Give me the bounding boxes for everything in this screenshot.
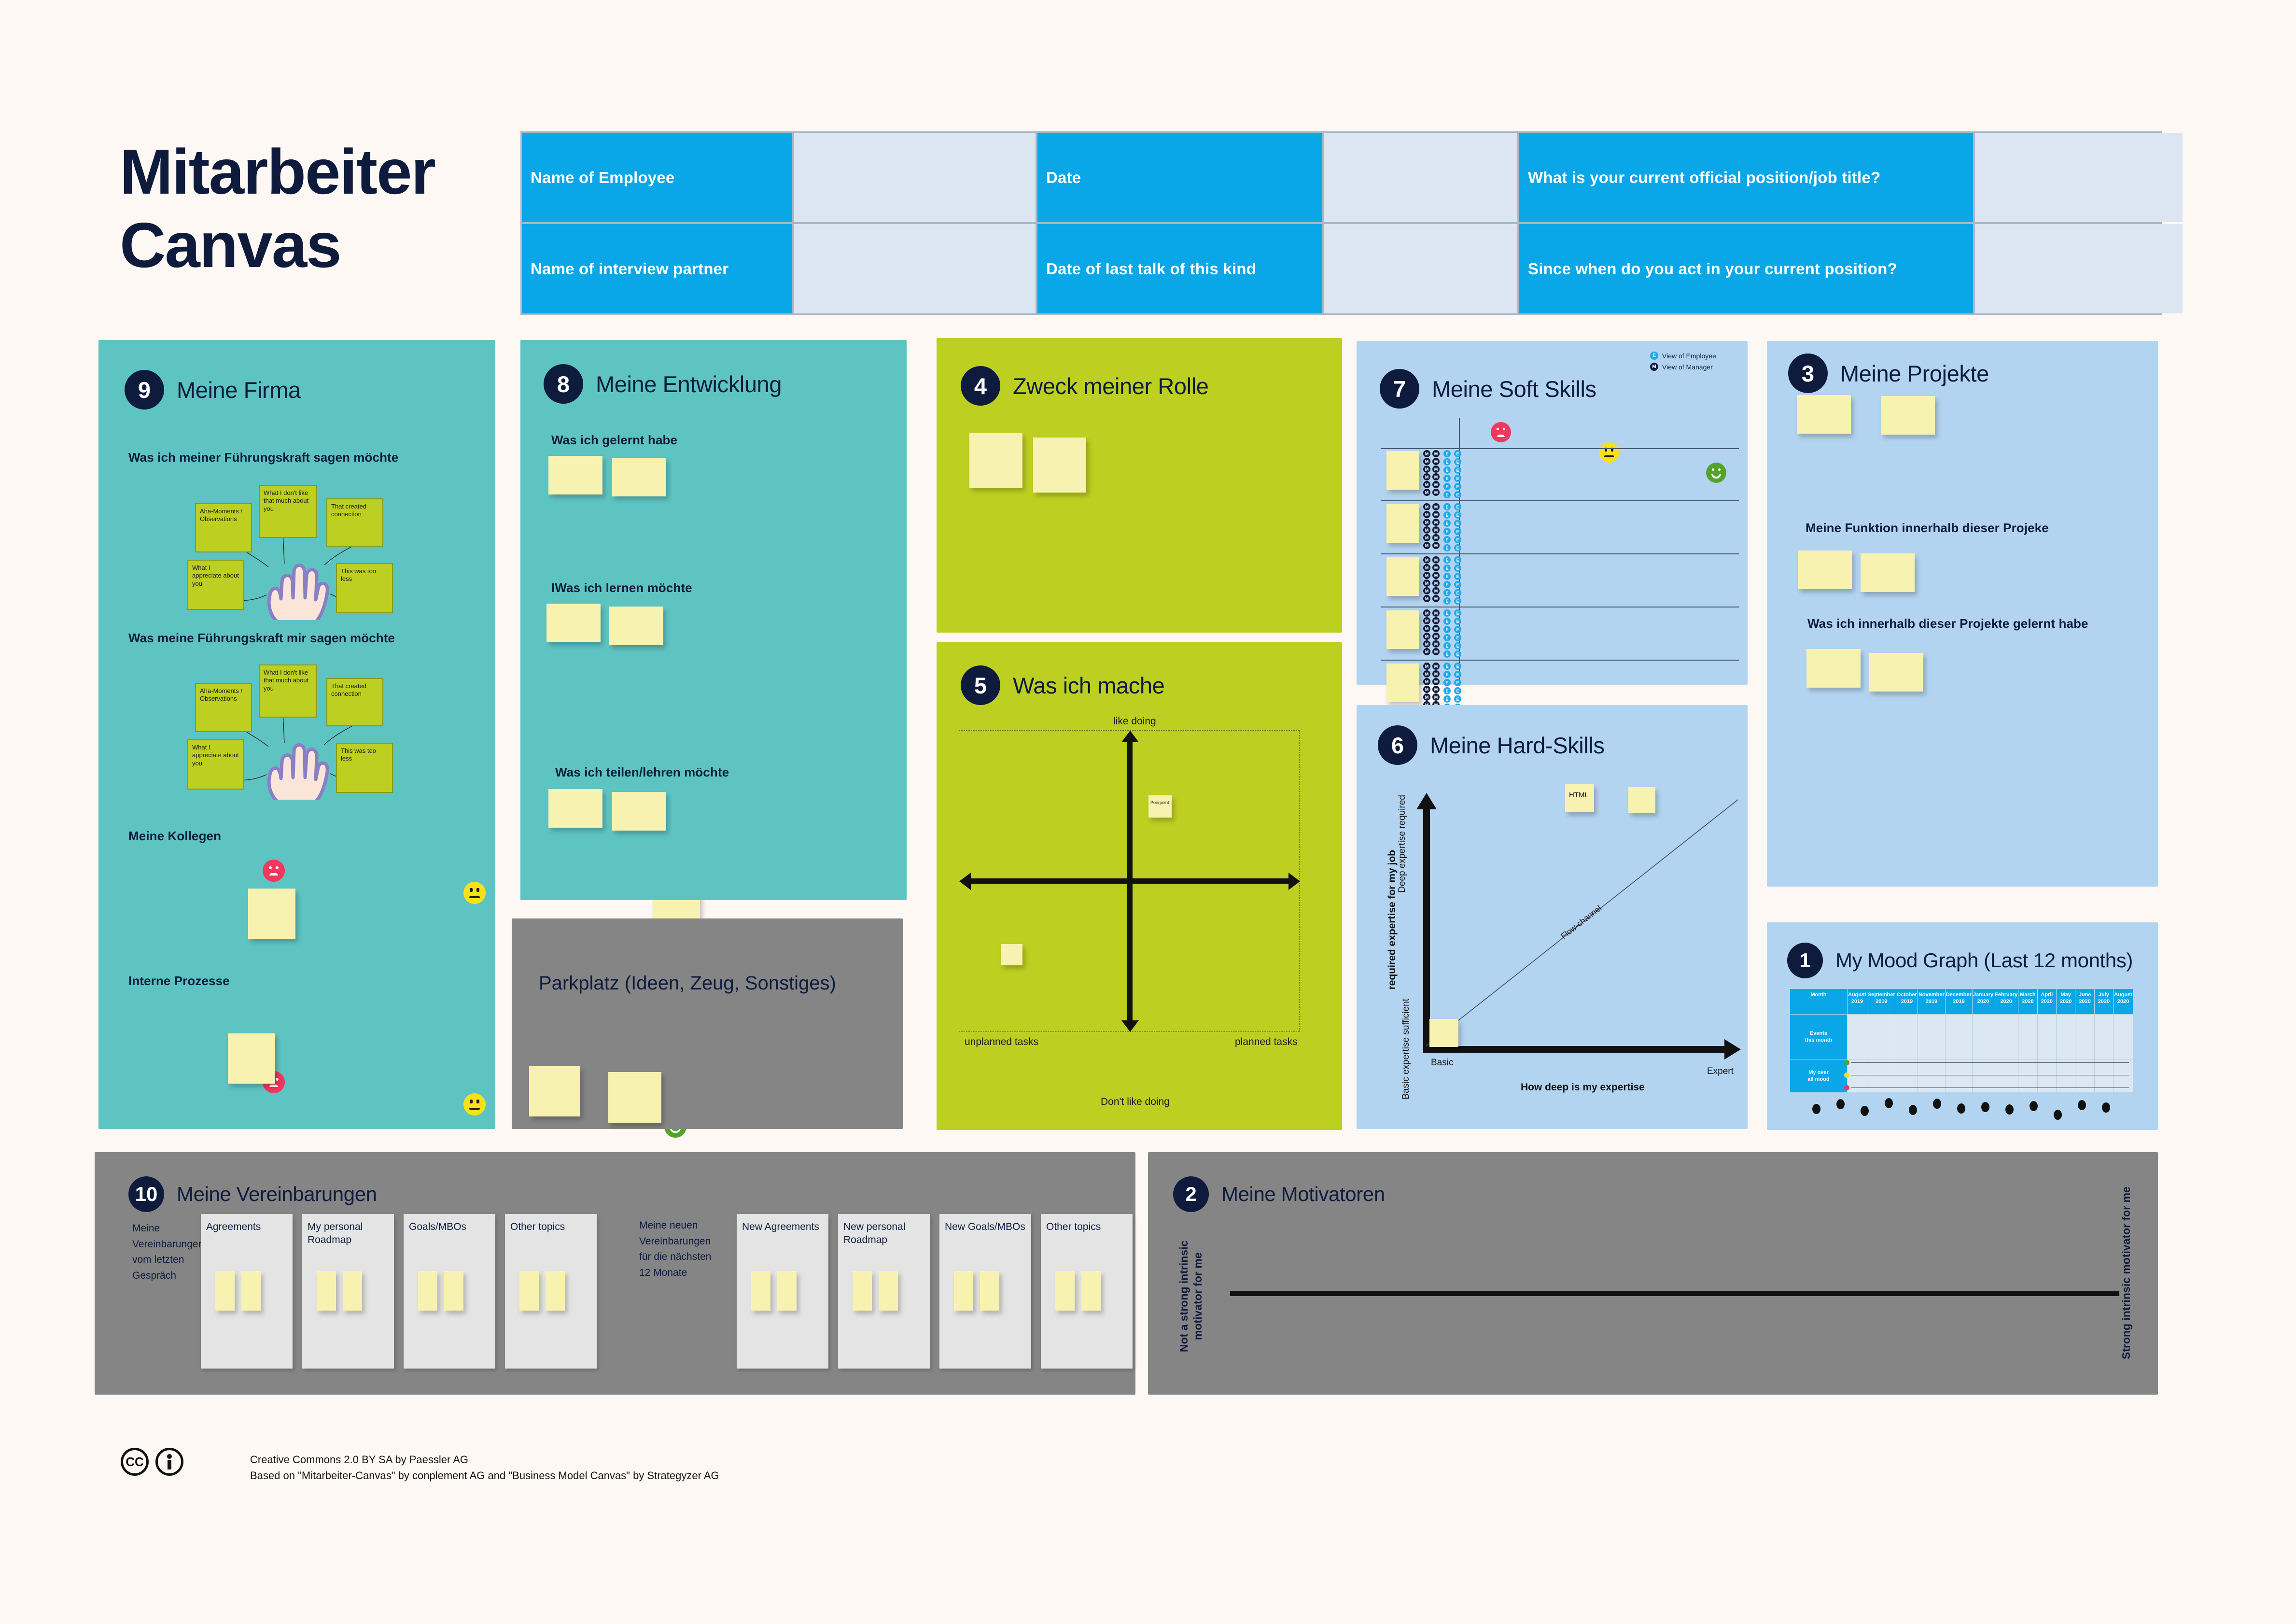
employee-badge[interactable]: E xyxy=(1443,687,1451,694)
agreement-new-note[interactable] xyxy=(980,1271,999,1311)
mood-data-point[interactable] xyxy=(1957,1103,1965,1114)
employee-badge[interactable]: E xyxy=(1443,597,1451,605)
employee-badge[interactable]: E xyxy=(1454,581,1461,588)
panel-number-badge: 7 xyxy=(1380,369,1419,409)
panel-2-header: 2 Meine Motivatoren xyxy=(1173,1176,1385,1212)
manager-badge[interactable]: M xyxy=(1432,534,1440,541)
manager-badge[interactable]: M xyxy=(1423,595,1430,602)
employee-badge[interactable]: E xyxy=(1443,556,1451,564)
header-label-name-of-employee: Name of Employee xyxy=(522,133,792,222)
hand-diagram-to-manager: Aha-Moments / Observations What I don't … xyxy=(124,475,471,620)
mood-events-cell[interactable] xyxy=(2018,1015,2037,1059)
arrow-down-icon xyxy=(1121,1020,1139,1032)
manager-badge[interactable]: M xyxy=(1432,466,1440,473)
mood-row-label-mood: My overall mood xyxy=(1790,1059,1847,1092)
manager-badge[interactable]: M xyxy=(1432,648,1440,655)
manager-badge[interactable]: M xyxy=(1423,633,1430,640)
manager-badge[interactable]: M xyxy=(1423,556,1430,564)
employee-badge[interactable]: E xyxy=(1454,466,1461,474)
hand-note-too-less[interactable]: This was too less xyxy=(336,563,393,613)
employee-badge[interactable]: E xyxy=(1443,475,1451,482)
mood-month-header: March2020 xyxy=(2018,989,2037,1014)
panel-number-badge: 8 xyxy=(544,364,583,404)
manager-badge[interactable]: M xyxy=(1423,625,1430,632)
agreement-new-notes xyxy=(853,1271,898,1311)
attribution-person-icon xyxy=(155,1448,183,1476)
note-project-1[interactable] xyxy=(1797,395,1851,434)
manager-badge[interactable]: M xyxy=(1423,519,1430,526)
manager-badge[interactable]: M xyxy=(1432,473,1440,480)
soft-skill-note[interactable] xyxy=(1386,451,1419,490)
employee-badge[interactable]: E xyxy=(1443,671,1451,678)
employee-badge[interactable]: E xyxy=(1454,634,1461,641)
agreement-old-column[interactable]: Agreements xyxy=(201,1214,293,1369)
agreement-old-note[interactable] xyxy=(519,1271,539,1311)
footer-line-2: Based on "Mitarbeiter-Canvas" by conplem… xyxy=(250,1468,719,1483)
note-want-learn-2[interactable] xyxy=(609,607,663,645)
employee-badge[interactable]: E xyxy=(1454,556,1461,564)
employee-badge[interactable]: E xyxy=(1454,687,1461,694)
agreement-new-notes xyxy=(751,1271,797,1311)
agreement-old-note[interactable] xyxy=(418,1271,437,1311)
employee-badge[interactable]: E xyxy=(1443,634,1451,641)
manager-badge[interactable]: M xyxy=(1423,466,1430,473)
mood-sad-face-icon xyxy=(1844,1085,1849,1090)
employee-badge[interactable]: E xyxy=(1454,528,1461,535)
motivator-left-label: Not a strong intrinsic motivator for me xyxy=(1177,1229,1206,1364)
agreement-old-column[interactable]: Goals/MBOs xyxy=(404,1214,495,1369)
panel-parkplatz: Parkplatz (Ideen, Zeug, Sonstiges) xyxy=(512,918,903,1129)
employee-badge[interactable]: E xyxy=(1443,663,1451,670)
agreement-new-column-title: Other topics xyxy=(1041,1214,1133,1233)
note-processes-sad[interactable] xyxy=(228,1033,275,1084)
subheading-want-learn: IWas ich lernen möchte xyxy=(551,580,692,595)
manager-badge[interactable]: M xyxy=(1432,511,1440,518)
manager-badge[interactable]: M xyxy=(1423,617,1430,624)
manager-badge[interactable]: M xyxy=(1423,542,1430,549)
panel-title: My Mood Graph (Last 12 months) xyxy=(1835,949,2133,972)
hardskills-note-html[interactable]: HTML xyxy=(1565,784,1594,812)
mood-data-point[interactable] xyxy=(2102,1102,2110,1113)
header-input-interview-partner[interactable] xyxy=(794,224,1036,313)
note-want-learn-1[interactable] xyxy=(546,604,601,642)
mood-data-point[interactable] xyxy=(2078,1100,2086,1110)
employee-badge[interactable]: E xyxy=(1443,520,1451,527)
employee-badge[interactable]: E xyxy=(1454,503,1461,510)
mood-events-cell[interactable] xyxy=(1867,1015,1896,1059)
note-function-1[interactable] xyxy=(1798,551,1852,589)
mood-events-cell[interactable] xyxy=(2114,1015,2133,1059)
manager-badge[interactable]: M xyxy=(1432,625,1440,632)
parkplatz-title: Parkplatz (Ideen, Zeug, Sonstiges) xyxy=(539,973,836,994)
manager-badge[interactable]: M xyxy=(1423,609,1430,617)
employee-badge[interactable]: E xyxy=(1454,491,1461,498)
mood-data-point[interactable] xyxy=(2030,1101,2038,1111)
agreement-old-notes xyxy=(317,1271,362,1311)
note-parkplatz-2[interactable] xyxy=(608,1072,661,1123)
quadrant-label-left: unplanned tasks xyxy=(965,1036,1038,1048)
note-plearned-1[interactable] xyxy=(1806,649,1861,688)
employee-badge[interactable]: E xyxy=(1443,450,1451,457)
manager-badge[interactable]: M xyxy=(1432,595,1440,602)
agreement-new-note[interactable] xyxy=(751,1271,770,1311)
quadrant-label-top: like doing xyxy=(1113,716,1156,727)
employee-badge[interactable]: E xyxy=(1454,671,1461,678)
employee-badge[interactable]: E xyxy=(1454,695,1461,703)
header-input-since-when[interactable] xyxy=(1975,224,2183,313)
hand2-note-dislike[interactable]: What I don't like that much about you xyxy=(259,664,317,718)
panel-title: Meine Motivatoren xyxy=(1221,1183,1385,1206)
panel-5-header: 5 Was ich mache xyxy=(961,665,1164,705)
employee-badge[interactable]: E xyxy=(1454,544,1461,551)
mood-data-point[interactable] xyxy=(1861,1106,1869,1116)
panel-4-header: 4 Zweck meiner Rolle xyxy=(961,366,1208,406)
manager-badge[interactable]: M xyxy=(1423,663,1430,670)
mood-events-cell[interactable] xyxy=(2057,1015,2075,1059)
mood-events-cell[interactable] xyxy=(1848,1015,1867,1059)
employee-badge[interactable]: E xyxy=(1454,520,1461,527)
manager-badge[interactable]: M xyxy=(1423,458,1430,465)
hardskills-ylabel: required expertise for my job xyxy=(1386,850,1398,989)
mood-data-point[interactable] xyxy=(1981,1102,1989,1112)
agreement-old-note[interactable] xyxy=(546,1271,565,1311)
employee-badge[interactable]: E xyxy=(1443,483,1451,490)
employee-rating-badges[interactable]: EEEEEEEEEEEE xyxy=(1443,609,1464,658)
hand-note-appreciate[interactable]: What I appreciate about you xyxy=(187,560,244,610)
manager-badge[interactable]: M xyxy=(1423,489,1430,496)
note-plearned-2[interactable] xyxy=(1869,653,1923,692)
employee-badge[interactable]: E xyxy=(1443,609,1451,617)
panel-number-badge: 1 xyxy=(1787,943,1823,978)
employee-badge[interactable]: E xyxy=(1443,503,1451,510)
mood-data-point[interactable] xyxy=(1933,1099,1941,1109)
employee-badge[interactable]: E xyxy=(1454,650,1461,658)
manager-badge[interactable]: M xyxy=(1423,511,1430,518)
note-role-1[interactable] xyxy=(969,433,1022,488)
employee-badge[interactable]: E xyxy=(1443,589,1451,596)
sad-face-icon xyxy=(263,860,285,882)
manager-badge[interactable]: M xyxy=(1423,572,1430,579)
hand-note-observations[interactable]: Aha-Moments / Observations xyxy=(195,503,252,552)
manager-rating-badges[interactable]: MMMMMMMMMMMM xyxy=(1423,503,1441,549)
employee-badge[interactable]: E xyxy=(1454,597,1461,605)
mood-row-label-events: Eventsthis month xyxy=(1790,1015,1847,1059)
page-title-line2: Canvas xyxy=(120,209,554,282)
agreement-old-note[interactable] xyxy=(241,1271,261,1311)
note-share-2[interactable] xyxy=(612,792,666,831)
employee-badge[interactable]: E xyxy=(1443,642,1451,650)
panel-meine-hard-skills: 6 Meine Hard-Skills required expertise f… xyxy=(1357,705,1748,1129)
employee-badge[interactable]: E xyxy=(1454,450,1461,457)
person-glyph xyxy=(164,1454,175,1470)
mood-events-cell[interactable] xyxy=(1994,1015,2018,1059)
motivator-scale-line[interactable] xyxy=(1230,1291,2119,1296)
manager-badge[interactable]: M xyxy=(1432,609,1440,617)
manager-badge[interactable]: M xyxy=(1432,458,1440,465)
soft-skill-note[interactable] xyxy=(1386,504,1419,543)
panel-number-badge: 4 xyxy=(961,366,1000,406)
quadrant-note-2[interactable] xyxy=(1001,944,1022,965)
header-input-position[interactable] xyxy=(1975,133,2183,222)
manager-badge[interactable]: M xyxy=(1432,587,1440,594)
manager-badge[interactable]: M xyxy=(1423,473,1430,480)
manager-badge[interactable]: M xyxy=(1423,648,1430,655)
soft-skill-note[interactable] xyxy=(1386,664,1419,702)
note-function-2[interactable] xyxy=(1861,553,1915,592)
panel-title: Zweck meiner Rolle xyxy=(1013,373,1208,399)
employee-badge[interactable]: E xyxy=(1454,475,1461,482)
soft-skill-row: MMMMMMMMMMMMEEEEEEEEEEEE xyxy=(1381,448,1739,501)
legend-manager-badge: M xyxy=(1650,363,1658,371)
legend-manager-label: View of Manager xyxy=(1662,363,1713,371)
agreement-new-note[interactable] xyxy=(879,1271,898,1311)
manager-rating-badges[interactable]: MMMMMMMMMMMM xyxy=(1423,556,1441,602)
mood-month-header: February2020 xyxy=(1994,989,2018,1014)
mood-month-header: August2019 xyxy=(1848,989,1867,1014)
manager-badge[interactable]: M xyxy=(1432,617,1440,624)
mood-data-point[interactable] xyxy=(2005,1104,2014,1115)
footer-line-1: Creative Commons 2.0 BY SA by Paessler A… xyxy=(250,1452,719,1468)
manager-badge[interactable]: M xyxy=(1423,481,1430,488)
hand2-note-appreciate[interactable]: What I appreciate about you xyxy=(187,739,244,790)
hand2-note-observations[interactable]: Aha-Moments / Observations xyxy=(195,683,252,732)
manager-badge[interactable]: M xyxy=(1432,556,1440,564)
agreement-old-note[interactable] xyxy=(444,1271,463,1311)
mood-month-header: November2019 xyxy=(1918,989,1945,1014)
quadrant-note-poerpoint[interactable]: Poerpoint xyxy=(1148,795,1172,818)
mood-month-header: December2019 xyxy=(1946,989,1972,1014)
employee-badge[interactable]: E xyxy=(1454,618,1461,625)
agreement-old-column-title: Goals/MBOs xyxy=(404,1214,495,1233)
mood-month-header: April2020 xyxy=(2038,989,2056,1014)
mood-data-point[interactable] xyxy=(1836,1099,1845,1109)
employee-rating-badges[interactable]: EEEEEEEEEEEE xyxy=(1443,663,1464,711)
employee-badge[interactable]: E xyxy=(1443,565,1451,572)
agreement-old-note[interactable] xyxy=(215,1271,235,1311)
employee-rating-badges[interactable]: EEEEEEEEEEEE xyxy=(1443,450,1464,498)
manager-badge[interactable]: M xyxy=(1423,564,1430,571)
agreement-new-column-title: New personal Roadmap xyxy=(838,1214,930,1247)
mood-month-header: May2020 xyxy=(2057,989,2075,1014)
mood-month-header: June2020 xyxy=(2075,989,2094,1014)
mood-events-cell[interactable] xyxy=(1973,1015,1994,1059)
agreement-old-column-title: Agreements xyxy=(201,1214,293,1233)
agreement-new-column[interactable]: Other topics xyxy=(1041,1214,1133,1369)
employee-badge[interactable]: E xyxy=(1454,483,1461,490)
soft-skills-rows: MMMMMMMMMMMMEEEEEEEEEEEEMMMMMMMMMMMMEEEE… xyxy=(1381,448,1739,714)
note-project-2[interactable] xyxy=(1881,396,1935,435)
manager-badge[interactable]: M xyxy=(1432,579,1440,587)
note-share-1[interactable] xyxy=(548,789,602,828)
panel-3-header: 3 Meine Projekte xyxy=(1788,353,1989,393)
agreement-old-note[interactable] xyxy=(343,1271,362,1311)
quadrant-chart: Poerpoint xyxy=(959,730,1300,1032)
manager-badge[interactable]: M xyxy=(1432,663,1440,670)
legend-employee-badge: E xyxy=(1650,352,1658,360)
subheading-project-learned: Was ich innerhalb dieser Projekte gelern… xyxy=(1807,616,2088,631)
manager-rating-badges[interactable]: MMMMMMMMMMMM xyxy=(1423,663,1441,708)
employee-badge[interactable]: E xyxy=(1454,642,1461,650)
mood-events-cell[interactable] xyxy=(2075,1015,2094,1059)
employee-badge[interactable]: E xyxy=(1443,581,1451,588)
manager-badge[interactable]: M xyxy=(1432,542,1440,549)
employee-badge[interactable]: E xyxy=(1443,650,1451,658)
employee-badge[interactable]: E xyxy=(1443,458,1451,466)
agreement-old-column[interactable]: Other topics xyxy=(505,1214,597,1369)
manager-badge[interactable]: M xyxy=(1432,519,1440,526)
scale-sad-face-icon xyxy=(1491,422,1511,442)
soft-skill-note[interactable] xyxy=(1386,557,1419,596)
employee-rating-badges[interactable]: EEEEEEEEEEEE xyxy=(1443,503,1464,551)
manager-badge[interactable]: M xyxy=(1423,587,1430,594)
agreement-new-note[interactable] xyxy=(777,1271,797,1311)
arrow-right-icon xyxy=(1288,873,1300,890)
mood-data-point[interactable] xyxy=(1885,1098,1893,1108)
employee-badge[interactable]: E xyxy=(1443,511,1451,519)
manager-badge[interactable]: M xyxy=(1432,503,1440,510)
employee-badge[interactable]: E xyxy=(1443,528,1451,535)
neutral-face-icon-2 xyxy=(463,1093,486,1116)
panel-number-badge: 5 xyxy=(961,665,1000,705)
agreement-new-note[interactable] xyxy=(954,1271,973,1311)
employee-badge[interactable]: E xyxy=(1454,458,1461,466)
manager-rating-badges[interactable]: MMMMMMMMMMMM xyxy=(1423,450,1441,496)
manager-badge[interactable]: M xyxy=(1432,481,1440,488)
manager-badge[interactable]: M xyxy=(1423,693,1430,701)
manager-badge[interactable]: M xyxy=(1423,640,1430,648)
agreement-new-column[interactable]: New Agreements xyxy=(737,1214,828,1369)
agreement-new-note[interactable] xyxy=(1081,1271,1101,1311)
agreement-new-column[interactable]: New Goals/MBOs xyxy=(939,1214,1031,1369)
employee-badge[interactable]: E xyxy=(1454,589,1461,596)
manager-badge[interactable]: M xyxy=(1423,670,1430,678)
note-learned-1[interactable] xyxy=(548,456,602,494)
employee-badge[interactable]: E xyxy=(1443,626,1451,633)
manager-badge[interactable]: M xyxy=(1423,579,1430,587)
employee-badge[interactable]: E xyxy=(1443,573,1451,580)
header-label-last-talk-date: Date of last talk of this kind xyxy=(1037,224,1322,313)
note-learned-2[interactable] xyxy=(612,458,666,496)
manager-badge[interactable]: M xyxy=(1432,640,1440,648)
panel-was-ich-mache: 5 Was ich mache like doing Poerpoint unp… xyxy=(937,642,1342,1130)
agreement-old-note[interactable] xyxy=(317,1271,336,1311)
manager-badge[interactable]: M xyxy=(1432,633,1440,640)
hardskills-note-2[interactable] xyxy=(1628,787,1655,813)
soft-skill-row: MMMMMMMMMMMMEEEEEEEEEEEE xyxy=(1381,554,1739,607)
employee-badge[interactable]: E xyxy=(1443,491,1451,498)
manager-badge[interactable]: M xyxy=(1432,450,1440,457)
agreement-new-column[interactable]: New personal Roadmap xyxy=(838,1214,930,1369)
mood-data-point[interactable] xyxy=(1812,1104,1820,1114)
mood-graph-dots[interactable] xyxy=(1790,1091,2133,1121)
manager-badge[interactable]: M xyxy=(1432,526,1440,534)
panel-9-header: 9 Meine Firma xyxy=(125,370,301,410)
employee-badge[interactable]: E xyxy=(1443,466,1451,474)
manager-badge[interactable]: M xyxy=(1423,686,1430,693)
hand2-note-connection[interactable]: That created connection xyxy=(326,678,383,726)
employee-badge[interactable]: E xyxy=(1454,573,1461,580)
employee-badge[interactable]: E xyxy=(1454,609,1461,617)
quadrant-axis-horizontal xyxy=(968,878,1291,884)
mood-events-cell[interactable] xyxy=(2038,1015,2056,1059)
arrow-left-icon xyxy=(959,873,971,890)
employee-badge[interactable]: E xyxy=(1443,536,1451,543)
creative-commons-icon: CC xyxy=(121,1448,149,1476)
employee-rating-badges[interactable]: EEEEEEEEEEEE xyxy=(1443,556,1464,605)
manager-badge[interactable]: M xyxy=(1432,670,1440,678)
header-input-date[interactable] xyxy=(1324,133,1517,222)
manager-badge[interactable]: M xyxy=(1432,489,1440,496)
subheading-from-manager: Was meine Führungskraft mir sagen möchte xyxy=(128,631,395,646)
panel-my-mood-graph: 1 My Mood Graph (Last 12 months) MonthAu… xyxy=(1767,922,2158,1130)
mood-month-header: August2020 xyxy=(2114,989,2133,1014)
mood-events-cell[interactable] xyxy=(2095,1015,2113,1059)
employee-badge[interactable]: E xyxy=(1454,626,1461,633)
manager-badge[interactable]: M xyxy=(1423,534,1430,541)
header-input-name-of-employee[interactable] xyxy=(794,133,1036,222)
hardskills-note-3[interactable] xyxy=(1429,1019,1458,1047)
employee-badge[interactable]: E xyxy=(1454,565,1461,572)
agreement-new-notes xyxy=(1055,1271,1101,1311)
employee-badge[interactable]: E xyxy=(1454,663,1461,670)
hand2-note-too-less[interactable]: This was too less xyxy=(336,743,393,793)
manager-badge[interactable]: M xyxy=(1432,693,1440,701)
mood-events-cell[interactable] xyxy=(1946,1015,1972,1059)
mood-events-cell[interactable] xyxy=(1896,1015,1918,1059)
manager-badge[interactable]: M xyxy=(1432,564,1440,571)
hand-note-connection[interactable]: That created connection xyxy=(326,498,383,547)
agreement-old-column-title: My personal Roadmap xyxy=(302,1214,394,1247)
panel-number-badge: 10 xyxy=(128,1176,164,1212)
employee-badge[interactable]: E xyxy=(1454,679,1461,686)
manager-badge[interactable]: M xyxy=(1432,686,1440,693)
header-input-last-talk-date[interactable] xyxy=(1324,224,1517,313)
agreement-new-note[interactable] xyxy=(853,1271,872,1311)
quadrant-label-right: planned tasks xyxy=(1235,1036,1298,1048)
hardskills-x-left-label: Basic xyxy=(1431,1058,1453,1068)
note-parkplatz-1[interactable] xyxy=(529,1066,580,1116)
mood-events-cell[interactable] xyxy=(1918,1015,1945,1059)
page-title: Mitarbeiter Canvas xyxy=(120,135,554,282)
employee-badge[interactable]: E xyxy=(1443,679,1451,686)
manager-rating-badges[interactable]: MMMMMMMMMMMM xyxy=(1423,609,1441,655)
manager-badge[interactable]: M xyxy=(1423,450,1430,457)
mood-data-point[interactable] xyxy=(2054,1110,2062,1120)
hand-note-dislike[interactable]: What I don't like that much about you xyxy=(259,485,317,538)
note-role-2[interactable] xyxy=(1033,438,1086,493)
employee-badge[interactable]: E xyxy=(1454,511,1461,519)
header-label-interview-partner: Name of interview partner xyxy=(522,224,792,313)
agreement-old-column[interactable]: My personal Roadmap xyxy=(302,1214,394,1369)
employee-badge[interactable]: E xyxy=(1443,695,1451,703)
manager-badge[interactable]: M xyxy=(1423,678,1430,685)
motivator-right-label: Strong intrinsic motivator for me xyxy=(2119,1172,2137,1374)
mood-data-point[interactable] xyxy=(1909,1105,1917,1115)
agreement-new-note[interactable] xyxy=(1055,1271,1075,1311)
manager-badge[interactable]: M xyxy=(1423,526,1430,534)
legend-employee-label: View of Employee xyxy=(1662,352,1716,360)
manager-badge[interactable]: M xyxy=(1432,678,1440,685)
employee-badge[interactable]: E xyxy=(1443,544,1451,551)
manager-badge[interactable]: M xyxy=(1423,503,1430,510)
manager-badge[interactable]: M xyxy=(1432,572,1440,579)
note-colleagues-sad[interactable] xyxy=(248,889,295,939)
mood-month-header: October2019 xyxy=(1896,989,1918,1014)
soft-skill-note[interactable] xyxy=(1386,610,1419,649)
employee-badge[interactable]: E xyxy=(1454,536,1461,543)
mood-graph-grid: MonthAugust2019September2019October2019N… xyxy=(1790,989,2133,1091)
employee-badge[interactable]: E xyxy=(1443,618,1451,625)
